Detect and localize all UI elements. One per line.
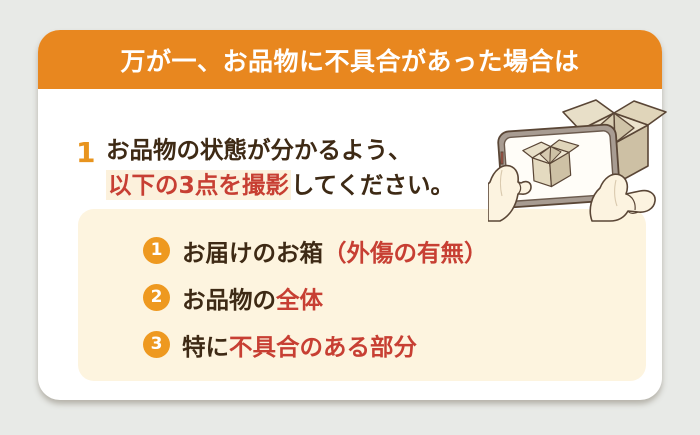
photo-checklist-panel: 1 お届けのお箱（外傷の有無） 2 お品物の全体 3 特に不具合のある部分 <box>78 209 646 381</box>
list-item-label: お届けのお箱（外傷の有無） <box>182 234 488 268</box>
list-item-plain: お品物の <box>182 286 276 314</box>
step-line-2-rest: してください。 <box>291 171 454 199</box>
header-bar: 万が一、お品物に不具合があった場合は <box>38 30 662 89</box>
list-badge: 1 <box>143 237 170 264</box>
step-line-2: 以下の3点を撮影してください。 <box>106 168 556 203</box>
list-item-emphasis: 全体 <box>276 286 323 314</box>
list-item-label: お品物の全体 <box>182 281 323 315</box>
step-number: 1 <box>76 139 95 167</box>
step-highlight: 以下の3点を撮影 <box>106 170 291 200</box>
list-item: 2 お品物の全体 <box>143 274 488 321</box>
list-item-plain: 特に <box>182 333 229 361</box>
list-item: 3 特に不具合のある部分 <box>143 321 488 368</box>
list-badge: 3 <box>143 331 170 358</box>
photo-checklist: 1 お届けのお箱（外傷の有無） 2 お品物の全体 3 特に不具合のある部分 <box>143 227 488 368</box>
list-item-emphasis: 不具合のある部分 <box>229 333 417 361</box>
list-item-plain: お届けのお箱 <box>182 239 323 267</box>
list-item-label: 特に不具合のある部分 <box>182 328 417 362</box>
list-item-emphasis: （外傷の有無） <box>323 239 488 267</box>
step-line-1: お品物の状態が分かるよう、 <box>106 133 556 168</box>
list-badge: 2 <box>143 284 170 311</box>
page-title: 万が一、お品物に不具合があった場合は <box>120 42 579 78</box>
step-text: お品物の状態が分かるよう、 以下の3点を撮影してください。 <box>106 133 556 203</box>
info-card: 万が一、お品物に不具合があった場合は 1 お品物の状態が分かるよう、 以下の3点… <box>38 30 662 400</box>
list-item: 1 お届けのお箱（外傷の有無） <box>143 227 488 274</box>
